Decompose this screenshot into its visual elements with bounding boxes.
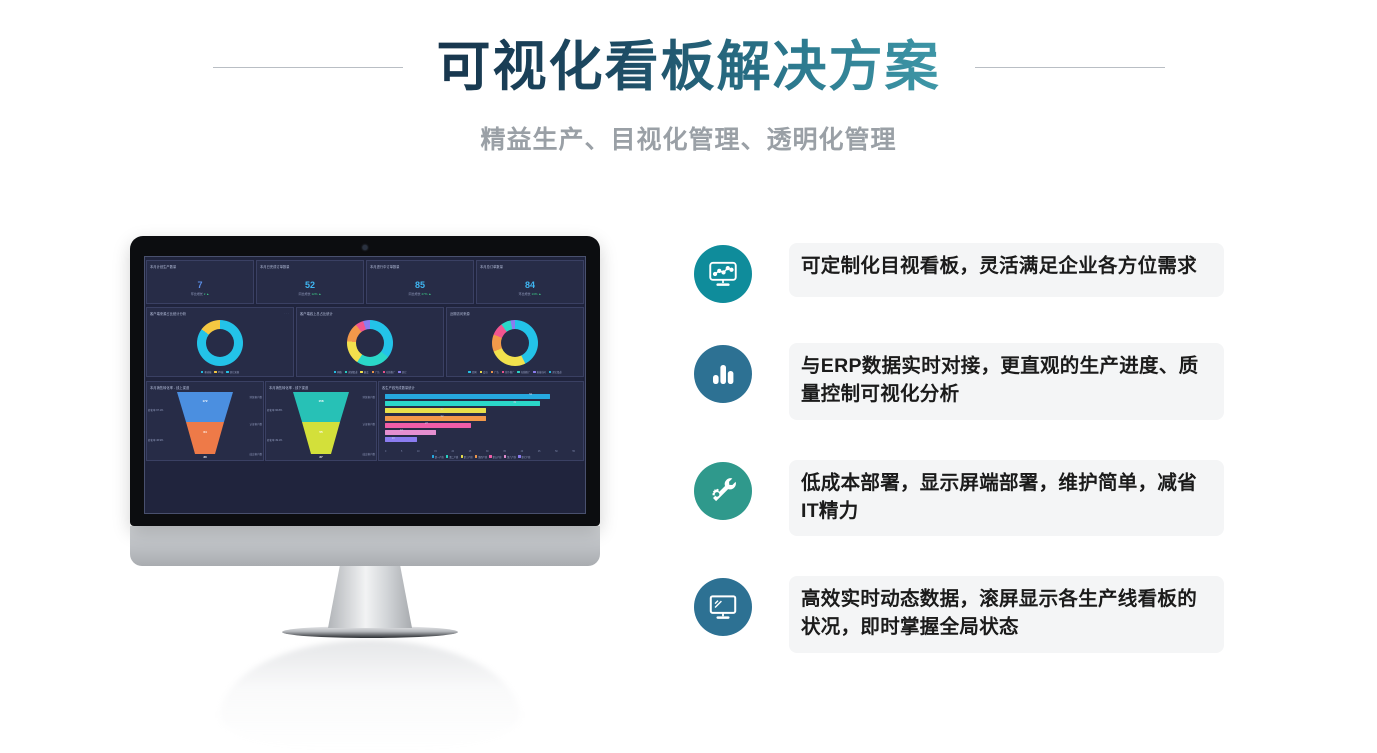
kpi-subtext: 同比增长 12% ▲ xyxy=(257,292,363,296)
bar-value-label: 32 xyxy=(441,408,444,411)
title-rule-right xyxy=(975,67,1165,68)
funnel-title: 本月销售转化率 - 线下渠道 xyxy=(266,382,376,390)
legend-item[interactable]: PC端 xyxy=(214,370,223,374)
legend-item[interactable]: 直接访问 xyxy=(533,370,546,374)
legend-item[interactable]: 在线推广 xyxy=(517,370,530,374)
donut-panel-1[interactable]: 客户端来源占比统计分析···移动端PC端其它来源 xyxy=(146,307,294,377)
funnel-title: 本月销售转化率 - 线上渠道 xyxy=(147,382,263,390)
legend-item[interactable]: 在线推广 xyxy=(383,370,396,374)
bar-2[interactable]: 49 xyxy=(385,401,540,406)
funnel-chart: 1585527浏览客户数认证客户数成交客户数转化率 96.8%转化率 49.1% xyxy=(266,392,376,456)
bar-chart-icon xyxy=(694,345,752,403)
x-tick: 30 xyxy=(486,451,489,452)
legend-item[interactable]: 展会 xyxy=(360,370,368,374)
legend-item[interactable]: 其它渠道 xyxy=(549,370,562,374)
feature-text: 可定制化目视看板，灵活满足企业各方位需求 xyxy=(789,243,1224,297)
funnel-left-label-2: 转化率 46.9% xyxy=(148,438,163,442)
feature-item-3[interactable]: 低成本部署，显示屏端部署，维护简单，减省IT精力 xyxy=(694,460,1224,537)
funnel-left-label-1: 转化率 96.8% xyxy=(267,408,282,412)
funnel-value-1: 158 xyxy=(293,399,349,403)
x-tick: 40 xyxy=(521,451,524,452)
bar-3[interactable]: 32 xyxy=(385,408,486,413)
bar-value-label: 49 xyxy=(513,401,516,404)
feature-list: 可定制化目视看板，灵活满足企业各方位需求与ERP数据实时对接，更直观的生产进度、… xyxy=(694,243,1224,653)
barchart-legend: 第一产线第二产线第三产线第四产线第五产线第六产线第七产线 xyxy=(379,455,583,459)
funnel-right-label-3: 成交客户数 xyxy=(249,452,262,456)
funnel-right-label-1: 浏览客户数 xyxy=(249,395,262,399)
donut-wrap xyxy=(447,320,583,366)
funnel-chart: 1726430浏览客户数认证客户数成交客户数转化率 97.1%转化率 46.9% xyxy=(147,392,263,456)
legend-item[interactable]: 第七产线 xyxy=(518,455,530,459)
donut-title: 客户端线上总占比统计 xyxy=(297,308,443,316)
legend-item[interactable]: 网络 xyxy=(334,370,342,374)
feature-item-2[interactable]: 与ERP数据实时对接，更直观的生产进度、质量控制可视化分析 xyxy=(694,343,1224,420)
x-tick: 50 xyxy=(555,451,558,452)
kpi-title: 本月已完成订单数量 xyxy=(257,261,363,269)
donut-chart xyxy=(197,320,243,366)
funnel-value-3: 27 xyxy=(266,455,376,459)
barchart-plot: 52493232271610 xyxy=(385,394,575,446)
donut-legend: 网络直销渠道展会广告在线推广其它 xyxy=(297,370,443,374)
x-tick: 25 xyxy=(469,451,472,452)
funnel-right-label-2: 认证客户数 xyxy=(362,422,375,426)
feature-text: 高效实时动态数据，滚屏显示各生产线看板的状况，即时掌握全局状态 xyxy=(789,576,1224,653)
kpi-title: 本月总订单数量 xyxy=(477,261,583,269)
donut-title: 近期访问来源 xyxy=(447,308,583,316)
webcam-icon xyxy=(363,245,368,250)
donut-panel-3[interactable]: 近期访问来源官网会员广告线下推广在线推广直接访问其它渠道 xyxy=(446,307,584,377)
donut-title: 客户端来源占比统计分析 xyxy=(147,308,293,316)
kpi-subtext: 环比增长 13% ▲ xyxy=(477,292,583,296)
barchart-panel[interactable]: 各生产线完成数量统计524932322716100510152025303540… xyxy=(378,381,584,461)
monitor-reflection xyxy=(220,640,520,750)
funnel-right-label-2: 认证客户数 xyxy=(249,422,262,426)
kpi-title: 本月进行中订单数量 xyxy=(367,261,473,269)
legend-item[interactable]: 第三产线 xyxy=(461,455,473,459)
funnel-value-1: 172 xyxy=(177,399,233,403)
panel-menu-dots[interactable]: ··· xyxy=(284,311,290,315)
wrench-gear-icon xyxy=(694,462,752,520)
legend-item[interactable]: 广告 xyxy=(372,370,380,374)
legend-item[interactable]: 官网 xyxy=(468,370,476,374)
feature-item-4[interactable]: 高效实时动态数据，滚屏显示各生产线看板的状况，即时掌握全局状态 xyxy=(694,576,1224,653)
donut-legend: 官网会员广告线下推广在线推广直接访问其它渠道 xyxy=(447,370,583,374)
funnel-segment-2: 64 xyxy=(186,422,224,454)
monitor-bezel: 本月计划生产数量7环比增长 2 ▲本月已完成订单数量52同比增长 12% ▲本月… xyxy=(130,236,600,526)
donut-legend: 移动端PC端其它来源 xyxy=(147,370,293,374)
funnel-value-3: 30 xyxy=(147,455,263,459)
legend-item[interactable]: 移动端 xyxy=(201,370,211,374)
feature-text: 与ERP数据实时对接，更直观的生产进度、质量控制可视化分析 xyxy=(789,343,1224,420)
funnel-value-2: 64 xyxy=(186,430,224,434)
monitor-line-chart-icon xyxy=(694,245,752,303)
kpi-value: 52 xyxy=(257,280,363,290)
legend-item[interactable]: 第四产线 xyxy=(475,455,487,459)
legend-item[interactable]: 会员 xyxy=(480,370,488,374)
x-tick: 55 xyxy=(572,451,575,452)
bar-6[interactable]: 16 xyxy=(385,430,436,435)
feature-text: 低成本部署，显示屏端部署，维护简单，减省IT精力 xyxy=(789,460,1224,537)
funnel-left-label-1: 转化率 97.1% xyxy=(148,408,163,412)
title-rule-left xyxy=(213,67,403,68)
bar-7[interactable]: 10 xyxy=(385,437,417,442)
legend-item[interactable]: 直销渠道 xyxy=(345,370,358,374)
legend-item[interactable]: 第二产线 xyxy=(446,455,458,459)
monitor-screen: 本月计划生产数量7环比增长 2 ▲本月已完成订单数量52同比增长 12% ▲本月… xyxy=(144,256,586,514)
kpi-subtext: 环比增长 2 ▲ xyxy=(147,292,253,296)
page-subtitle: 精益生产、目视化管理、透明化管理 xyxy=(0,120,1377,156)
donut-panel-2[interactable]: 客户端线上总占比统计网络直销渠道展会广告在线推广其它 xyxy=(296,307,444,377)
funnel-right-label-3: 成交客户数 xyxy=(362,452,375,456)
donut-wrap xyxy=(147,320,293,366)
legend-item[interactable]: 线下推广 xyxy=(502,370,515,374)
barchart-x-axis: 0510152025303540455055 xyxy=(385,450,575,451)
kpi-card-3[interactable]: 本月进行中订单数量85同比增长 27% ▲ xyxy=(366,260,474,304)
monitor-chin xyxy=(130,526,600,566)
page-title: 可视化看板解决方案 xyxy=(437,36,941,98)
kpi-title: 本月计划生产数量 xyxy=(147,261,253,269)
kpi-subtext: 同比增长 27% ▲ xyxy=(367,292,473,296)
x-tick: 15 xyxy=(434,451,437,452)
funnel-panel-2[interactable]: 本月销售转化率 - 线下渠道1585527浏览客户数认证客户数成交客户数转化率 … xyxy=(265,381,377,461)
legend-item[interactable]: 广告 xyxy=(491,370,499,374)
funnel-right-label-1: 浏览客户数 xyxy=(362,395,375,399)
x-tick: 0 xyxy=(385,451,386,452)
legend-item[interactable]: 其它来源 xyxy=(226,370,239,374)
kpi-card-1[interactable]: 本月计划生产数量7环比增长 2 ▲ xyxy=(146,260,254,304)
funnel-segment-1: 172 xyxy=(177,392,233,422)
kpi-value: 84 xyxy=(477,280,583,290)
legend-item[interactable]: 第五产线 xyxy=(489,455,501,459)
feature-item-1[interactable]: 可定制化目视看板，灵活满足企业各方位需求 xyxy=(694,243,1224,303)
donut-chart xyxy=(347,320,393,366)
bar-5[interactable]: 27 xyxy=(385,423,471,428)
funnel-left-label-2: 转化率 49.1% xyxy=(267,438,282,442)
x-tick: 45 xyxy=(538,451,541,452)
bar-4[interactable]: 32 xyxy=(385,416,486,421)
title-row: 可视化看板解决方案 xyxy=(0,36,1377,98)
x-tick: 10 xyxy=(417,451,420,452)
bar-value-label: 16 xyxy=(400,429,403,432)
monitor-screen-icon xyxy=(694,578,752,636)
legend-item[interactable]: 其它 xyxy=(398,370,406,374)
bar-value-label: 10 xyxy=(392,437,395,440)
bar-1[interactable]: 52 xyxy=(385,394,550,399)
kpi-card-2[interactable]: 本月已完成订单数量52同比增长 12% ▲ xyxy=(256,260,364,304)
dashboard: 本月计划生产数量7环比增长 2 ▲本月已完成订单数量52同比增长 12% ▲本月… xyxy=(145,257,585,513)
kpi-card-4[interactable]: 本月总订单数量84环比增长 13% ▲ xyxy=(476,260,584,304)
monitor-illustration: 本月计划生产数量7环比增长 2 ▲本月已完成订单数量52同比增长 12% ▲本月… xyxy=(130,236,610,750)
donut-wrap xyxy=(297,320,443,366)
bar-value-label: 27 xyxy=(425,422,428,425)
legend-item[interactable]: 第一产线 xyxy=(432,455,444,459)
x-tick: 20 xyxy=(452,451,455,452)
funnel-panel-1[interactable]: 本月销售转化率 - 线上渠道1726430浏览客户数认证客户数成交客户数转化率 … xyxy=(146,381,264,461)
barchart-title: 各生产线完成数量统计 xyxy=(379,382,583,390)
monitor-stand-neck xyxy=(328,566,412,628)
funnel-segment-2: 55 xyxy=(302,422,340,454)
x-tick: 5 xyxy=(401,451,402,452)
funnel-value-2: 55 xyxy=(302,430,340,434)
legend-item[interactable]: 第六产线 xyxy=(504,455,516,459)
page-header: 可视化看板解决方案 精益生产、目视化管理、透明化管理 xyxy=(0,0,1377,156)
funnel-segment-1: 158 xyxy=(293,392,349,422)
bar-value-label: 52 xyxy=(529,393,532,396)
x-tick: 35 xyxy=(503,451,506,452)
kpi-value: 7 xyxy=(147,280,253,290)
kpi-value: 85 xyxy=(367,280,473,290)
bar-value-label: 32 xyxy=(441,415,444,418)
donut-chart xyxy=(492,320,538,366)
